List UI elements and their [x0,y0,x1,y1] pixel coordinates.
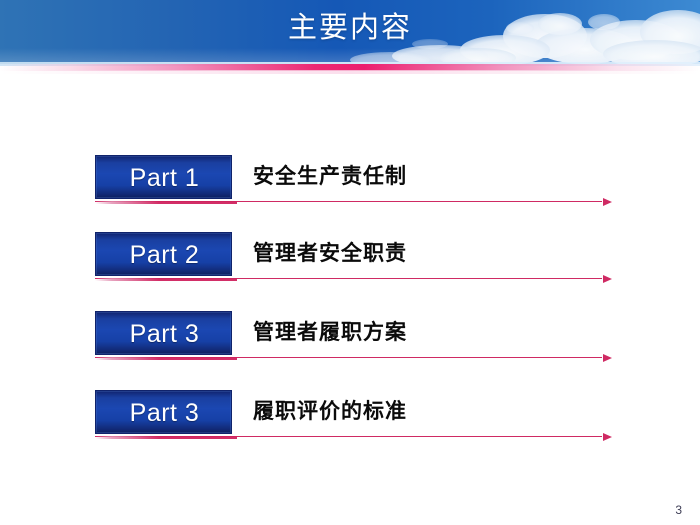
arrow-head-icon [603,275,612,283]
content-title-2: 管理者安全职责 [253,234,407,274]
list-item[interactable]: Part 1 安全生产责任制 [0,155,700,235]
slide-main-contents: 主要内容 Part 1 安全生产责任制 Part 2 [0,0,700,525]
part-box-underline-4 [95,436,237,439]
list-item[interactable]: Part 2 管理者安全职责 [0,232,700,312]
part-box-underline-1 [95,201,237,204]
part-box-4[interactable]: Part 3 [95,390,232,434]
part-box-underline-2 [95,278,237,281]
arrow-head-icon [603,198,612,206]
part-label: Part 2 [96,233,232,276]
part-label: Part 1 [96,156,232,199]
list-item[interactable]: Part 3 管理者履职方案 [0,311,700,391]
part-box-2[interactable]: Part 2 [95,232,232,276]
page-title: 主要内容 [0,9,700,47]
page-number: 3 [675,503,682,517]
arrow-head-icon [603,354,612,362]
contents-list: Part 1 安全生产责任制 Part 2 管理者安全职责 Part [0,0,700,525]
arrow-head-icon [603,433,612,441]
part-box-underline-3 [95,357,237,360]
content-title-4: 履职评价的标准 [253,392,407,432]
part-box-3[interactable]: Part 3 [95,311,232,355]
part-box-1[interactable]: Part 1 [95,155,232,199]
list-item[interactable]: Part 3 履职评价的标准 [0,390,700,470]
part-label: Part 3 [96,391,232,434]
part-label: Part 3 [96,312,232,355]
content-title-1: 安全生产责任制 [253,157,407,197]
content-title-3: 管理者履职方案 [253,313,407,353]
